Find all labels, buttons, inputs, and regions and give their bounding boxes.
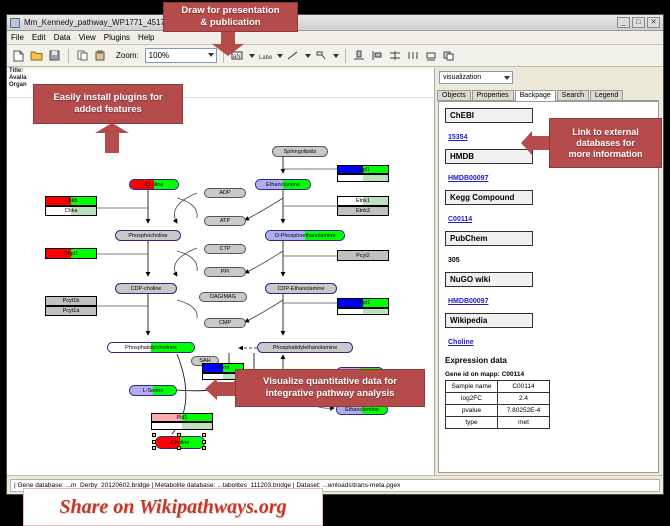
tab-legend[interactable]: Legend (590, 90, 623, 100)
table-cell: met (498, 417, 550, 429)
table-row: log2FC2.4 (446, 393, 550, 405)
node-label: Chka (65, 208, 78, 214)
database-link[interactable]: HMDB00097 (448, 298, 488, 305)
svg-text:Label: Label (259, 55, 272, 61)
callout-links: Link to externaldatabases formore inform… (549, 118, 662, 168)
database-header: ChEBI (445, 108, 533, 123)
node-label: Pcyt1a (63, 308, 80, 314)
window-controls: _ □ ✕ (617, 17, 660, 28)
align-left-icon[interactable] (370, 48, 385, 63)
node-label: L-Serine (143, 388, 164, 394)
selection-handle[interactable] (152, 446, 156, 450)
side-panel-tabs: Objects Properties Backpage Search Legen… (437, 88, 659, 101)
callout-plugins: Easily install plugins foradded features (33, 84, 183, 124)
node-label: Phosphocholine (128, 233, 167, 239)
share-banner-text: Share on Wikipathways.org (59, 496, 286, 519)
node-fill-left (338, 309, 363, 314)
node-label: PPi (221, 269, 230, 275)
table-cell: log2FC (446, 393, 498, 405)
new-file-icon[interactable] (11, 48, 26, 63)
database-link[interactable]: 15354 (448, 134, 467, 141)
table-cell: 7.80252E-4 (498, 405, 550, 417)
size-equal-icon[interactable] (424, 48, 439, 63)
database-value: 305 (448, 257, 460, 264)
label-dropdown-icon[interactable] (277, 54, 283, 58)
gene-node[interactable]: Sgpl1 (337, 165, 389, 174)
app-icon (10, 18, 20, 28)
table-cell: pvalue (446, 405, 498, 417)
selection-handle[interactable] (202, 433, 206, 437)
node-label: Cept1 (356, 300, 371, 306)
selection-handle[interactable] (152, 440, 156, 444)
node-label: Pemt (217, 365, 230, 371)
pathway-editor-pane[interactable]: Title: Availa Organ (7, 68, 435, 475)
metabolite-node[interactable]: Phosphatidylcholines (107, 342, 195, 353)
tab-properties[interactable]: Properties (472, 90, 514, 100)
selection-handle[interactable] (152, 433, 156, 437)
gene-node[interactable] (337, 308, 389, 315)
metabolite-node[interactable]: ADP (204, 188, 246, 198)
line-dropdown-icon[interactable] (305, 54, 311, 58)
node-label: Etnk1 (356, 198, 370, 204)
menu-plugins[interactable]: Plugins (104, 33, 130, 42)
node-label: ADP (219, 190, 230, 196)
open-folder-icon[interactable] (29, 48, 44, 63)
gene-node[interactable]: Etnk1 (337, 196, 389, 206)
metabolite-node[interactable]: Sphingolipids (272, 146, 328, 157)
datanode-dropdown-icon[interactable] (249, 54, 255, 58)
anchor-icon[interactable] (314, 48, 329, 63)
node-label: Etnk2 (356, 208, 370, 214)
paste-icon[interactable] (93, 48, 108, 63)
node-fill-left (338, 175, 363, 181)
gene-node[interactable]: Chka (45, 206, 97, 216)
gene-node[interactable] (337, 174, 389, 182)
metabolite-node[interactable]: Phosphatidylethanolamine (257, 342, 353, 353)
callout-links-arrow (521, 131, 551, 160)
distribute-horizontal-icon[interactable] (406, 48, 421, 63)
gene-node[interactable]: Etnk2 (337, 206, 389, 216)
line-icon[interactable] (286, 48, 301, 63)
callout-plugins-arrow (95, 123, 129, 158)
metabolite-node[interactable]: Phosphocholine (115, 230, 181, 241)
menu-bar: File Edit Data View Plugins Help (7, 31, 663, 45)
table-cell: 2.4 (498, 393, 550, 405)
zoom-value: 100% (149, 51, 169, 60)
tab-search[interactable]: Search (557, 90, 589, 100)
menu-file[interactable]: File (11, 33, 24, 42)
node-fill-right (363, 309, 388, 314)
title-bar: Mm_Kennedy_pathway_WP1771_45176.gpml _ □… (7, 15, 663, 31)
gene-node[interactable]: Chpt1 (45, 248, 97, 259)
toolbar: Zoom: 100% aN Label (7, 45, 663, 67)
metabolite-node[interactable]: CDP-choline (115, 283, 177, 294)
database-header: Kegg Compound (445, 190, 533, 205)
tab-backpage[interactable]: Backpage (515, 90, 556, 101)
pathway-canvas[interactable]: SphingolipidsCholineEthanolamineADPATPPh… (7, 68, 434, 475)
node-label: Sphingolipids (284, 149, 317, 155)
table-row: typemet (446, 417, 550, 429)
gene-node[interactable]: Pcyt1b (45, 296, 97, 306)
node-label: Ethanolamine (345, 407, 379, 413)
node-label: DAG/MAG (210, 294, 236, 300)
node-label: Sgpl1 (356, 167, 370, 173)
gene-node[interactable]: Pcyt2 (337, 250, 389, 261)
minimize-button[interactable]: _ (617, 17, 630, 28)
zoom-label: Zoom: (116, 51, 139, 60)
table-cell: type (446, 417, 498, 429)
callout-draw: Draw for presentation& publication (163, 2, 298, 32)
metabolite-node[interactable]: Choline (129, 179, 179, 190)
table-cell: C00114 (498, 381, 550, 393)
expression-table: Sample nameC00114log2FC2.4pvalue7.80252E… (445, 380, 550, 429)
node-label: CTP (220, 246, 231, 252)
node-label: Choline (145, 182, 164, 188)
database-header: Wikipedia (445, 313, 533, 328)
metabolite-node[interactable]: CDP-Ethanolamine (265, 283, 337, 294)
node-fill-left (152, 423, 182, 429)
visualization-value: visualization (443, 74, 481, 81)
selection-handle[interactable] (202, 440, 206, 444)
anchor-dropdown-icon[interactable] (333, 54, 339, 58)
selection-handle[interactable] (202, 446, 206, 450)
node-label: CDP-choline (131, 286, 162, 292)
selection-handle[interactable] (177, 433, 181, 437)
label-icon[interactable]: Label (258, 48, 273, 63)
node-label: SAH (199, 358, 210, 364)
menu-help[interactable]: Help (138, 33, 154, 42)
zoom-combobox[interactable]: 100% (145, 48, 217, 63)
share-banner: Share on Wikipathways.org (23, 488, 323, 526)
distribute-vertical-icon[interactable] (388, 48, 403, 63)
node-label: ATP (220, 218, 230, 224)
table-row: pvalue7.80252E-4 (446, 405, 550, 417)
align-top-icon[interactable] (352, 48, 367, 63)
bring-front-icon[interactable] (442, 48, 457, 63)
tab-objects[interactable]: Objects (437, 90, 471, 100)
metabolite-node[interactable]: Ethanolamine (255, 179, 311, 190)
node-fill-right (363, 175, 388, 181)
database-link[interactable]: C00114 (448, 216, 472, 223)
metabolite-node[interactable]: DAG/MAG (199, 292, 247, 302)
toolbar-separator (68, 49, 69, 63)
pathvisio-window: Mm_Kennedy_pathway_WP1771_45176.gpml _ □… (6, 14, 664, 495)
close-button[interactable]: ✕ (647, 17, 660, 28)
chevron-down-icon (504, 76, 510, 80)
node-label: Ethanolamine (266, 182, 300, 188)
metabolite-node[interactable]: CTP (204, 244, 246, 254)
table-row: Sample nameC00114 (446, 381, 550, 393)
metabolite-node[interactable]: O-Phosphoethanolamine (265, 230, 345, 241)
node-label: CDP-Ethanolamine (277, 286, 324, 292)
node-fill-right (182, 423, 212, 429)
database-link[interactable]: Choline (448, 339, 474, 346)
toolbar-separator-3 (345, 49, 346, 63)
copy-icon[interactable] (75, 48, 90, 63)
gene-node[interactable]: Pcyt1a (45, 306, 97, 316)
save-icon[interactable] (47, 48, 62, 63)
expression-data-heading: Expression data (445, 356, 658, 365)
gene-node[interactable]: Pld1 (151, 413, 213, 422)
gene-node[interactable]: Cept1 (337, 298, 389, 308)
menu-data[interactable]: Data (54, 33, 71, 42)
callout-visualize-arrow (205, 378, 237, 405)
menu-view[interactable]: View (79, 33, 96, 42)
node-label: Phosphatidylcholines (125, 345, 177, 351)
table-cell: Sample name (446, 381, 498, 393)
metabolite-node[interactable]: L-Serine (129, 385, 177, 396)
node-label: Phosphatidylethanolamine (273, 345, 338, 351)
node-label: Pcyt2 (356, 253, 370, 259)
maximize-button[interactable]: □ (632, 17, 645, 28)
menu-edit[interactable]: Edit (32, 33, 46, 42)
node-label: Chkb (65, 198, 78, 204)
metabolite-node[interactable]: PPi (204, 267, 246, 277)
node-label: Choline (171, 440, 190, 446)
selection-handle[interactable] (177, 446, 181, 450)
callout-draw-arrow (212, 30, 244, 61)
database-link[interactable]: HMDB00097 (448, 175, 488, 182)
node-label: Pld1 (176, 415, 187, 421)
gene-node[interactable]: Chkb (45, 196, 97, 206)
metabolite-node[interactable]: CMP (204, 318, 246, 328)
database-header: NuGO wiki (445, 272, 533, 287)
gene-node[interactable] (151, 422, 213, 430)
gene-id-line: Gene id on mapp: C00114 (445, 371, 658, 378)
node-label: O-Phosphoethanolamine (275, 233, 336, 239)
visualization-combobox[interactable]: visualization (439, 71, 513, 84)
metabolite-node[interactable]: ATP (204, 216, 246, 226)
node-label: Pcyt1b (63, 298, 80, 304)
callout-visualize: Visualize quantitative data forintegrati… (235, 369, 425, 407)
database-header: HMDB (445, 149, 533, 164)
database-header: PubChem (445, 231, 533, 246)
node-label: CMP (219, 320, 231, 326)
node-label: Chpt1 (64, 251, 79, 257)
